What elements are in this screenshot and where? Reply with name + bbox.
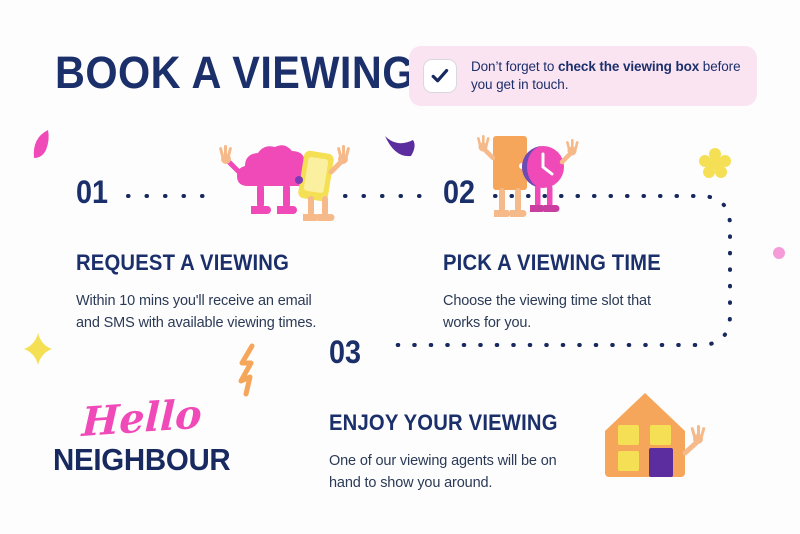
purple-arrow-accent [383, 132, 419, 162]
step-body: Choose the viewing time slot that works … [443, 291, 688, 335]
house-window [618, 425, 639, 445]
orange-zigzag-accent [238, 345, 262, 395]
phone-and-cloud-characters [215, 138, 350, 228]
waving-house [597, 389, 712, 484]
step-body: Within 10 mins you'll receive an email a… [76, 291, 326, 335]
logo-script-word: Hello [81, 394, 224, 442]
step-heading: ENJOY YOUR VIEWING [329, 412, 564, 434]
yellow-flower-accent [700, 148, 730, 178]
logo-block-word: NEIGHBOUR [53, 444, 215, 475]
step-number: 03 [329, 336, 559, 368]
house-window [618, 451, 639, 471]
step-heading: PICK A VIEWING TIME [443, 252, 668, 274]
step-heading: REQUEST A VIEWING [76, 252, 306, 274]
door-and-clock-characters [473, 130, 583, 225]
house-door [649, 448, 673, 477]
brand-logo: Hello NEIGHBOUR [53, 404, 223, 475]
step-body: One of our viewing agents will be on han… [329, 451, 584, 495]
pink-comma-accent [28, 128, 58, 166]
house-window [650, 425, 671, 445]
step-03: 03 ENJOY YOUR VIEWING One of our viewing… [329, 336, 584, 495]
yellow-sparkle-accent [23, 333, 53, 365]
pink-dot-accent [772, 246, 786, 260]
infographic-canvas: BOOK A VIEWING Don’t forget to check the… [0, 0, 800, 534]
